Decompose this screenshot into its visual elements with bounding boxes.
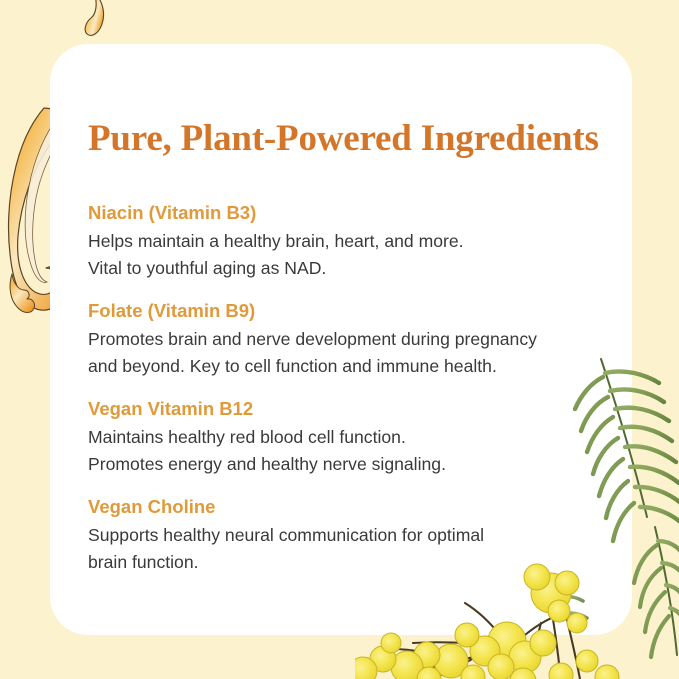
ingredient-item-vitamin-b12: Vegan Vitamin B12 Maintains healthy red … <box>88 395 606 478</box>
ingredient-description-line: Promotes brain and nerve development dur… <box>88 326 606 353</box>
poster-canvas: Pure, Plant-Powered Ingredients Niacin (… <box>0 0 679 679</box>
ingredient-description-line: and beyond. Key to cell function and imm… <box>88 353 606 380</box>
ingredients-card: Pure, Plant-Powered Ingredients Niacin (… <box>50 44 632 635</box>
ingredient-description-line: Vital to youthful aging as NAD. <box>88 255 606 282</box>
ingredient-description: Supports healthy neural communication fo… <box>88 522 606 576</box>
ingredient-name: Niacin (Vitamin B3) <box>88 199 606 226</box>
ingredient-item-niacin: Niacin (Vitamin B3) Helps maintain a hea… <box>88 199 606 282</box>
page-title: Pure, Plant-Powered Ingredients <box>88 120 606 157</box>
ingredient-description: Helps maintain a healthy brain, heart, a… <box>88 228 606 282</box>
ingredient-description-line: Supports healthy neural communication fo… <box>88 522 606 549</box>
ingredient-name: Vegan Vitamin B12 <box>88 395 606 422</box>
ingredient-item-choline: Vegan Choline Supports healthy neural co… <box>88 493 606 576</box>
ingredient-name: Folate (Vitamin B9) <box>88 297 606 324</box>
card-content: Pure, Plant-Powered Ingredients Niacin (… <box>88 120 606 576</box>
ingredient-name: Vegan Choline <box>88 493 606 520</box>
ingredient-description: Promotes brain and nerve development dur… <box>88 326 606 380</box>
ingredient-description-line: Helps maintain a healthy brain, heart, a… <box>88 228 606 255</box>
ingredient-description-line: Maintains healthy red blood cell functio… <box>88 424 606 451</box>
ingredient-description-line: brain function. <box>88 549 606 576</box>
ingredient-description: Maintains healthy red blood cell functio… <box>88 424 606 478</box>
ingredient-item-folate: Folate (Vitamin B9) Promotes brain and n… <box>88 297 606 380</box>
ingredient-description-line: Promotes energy and healthy nerve signal… <box>88 451 606 478</box>
